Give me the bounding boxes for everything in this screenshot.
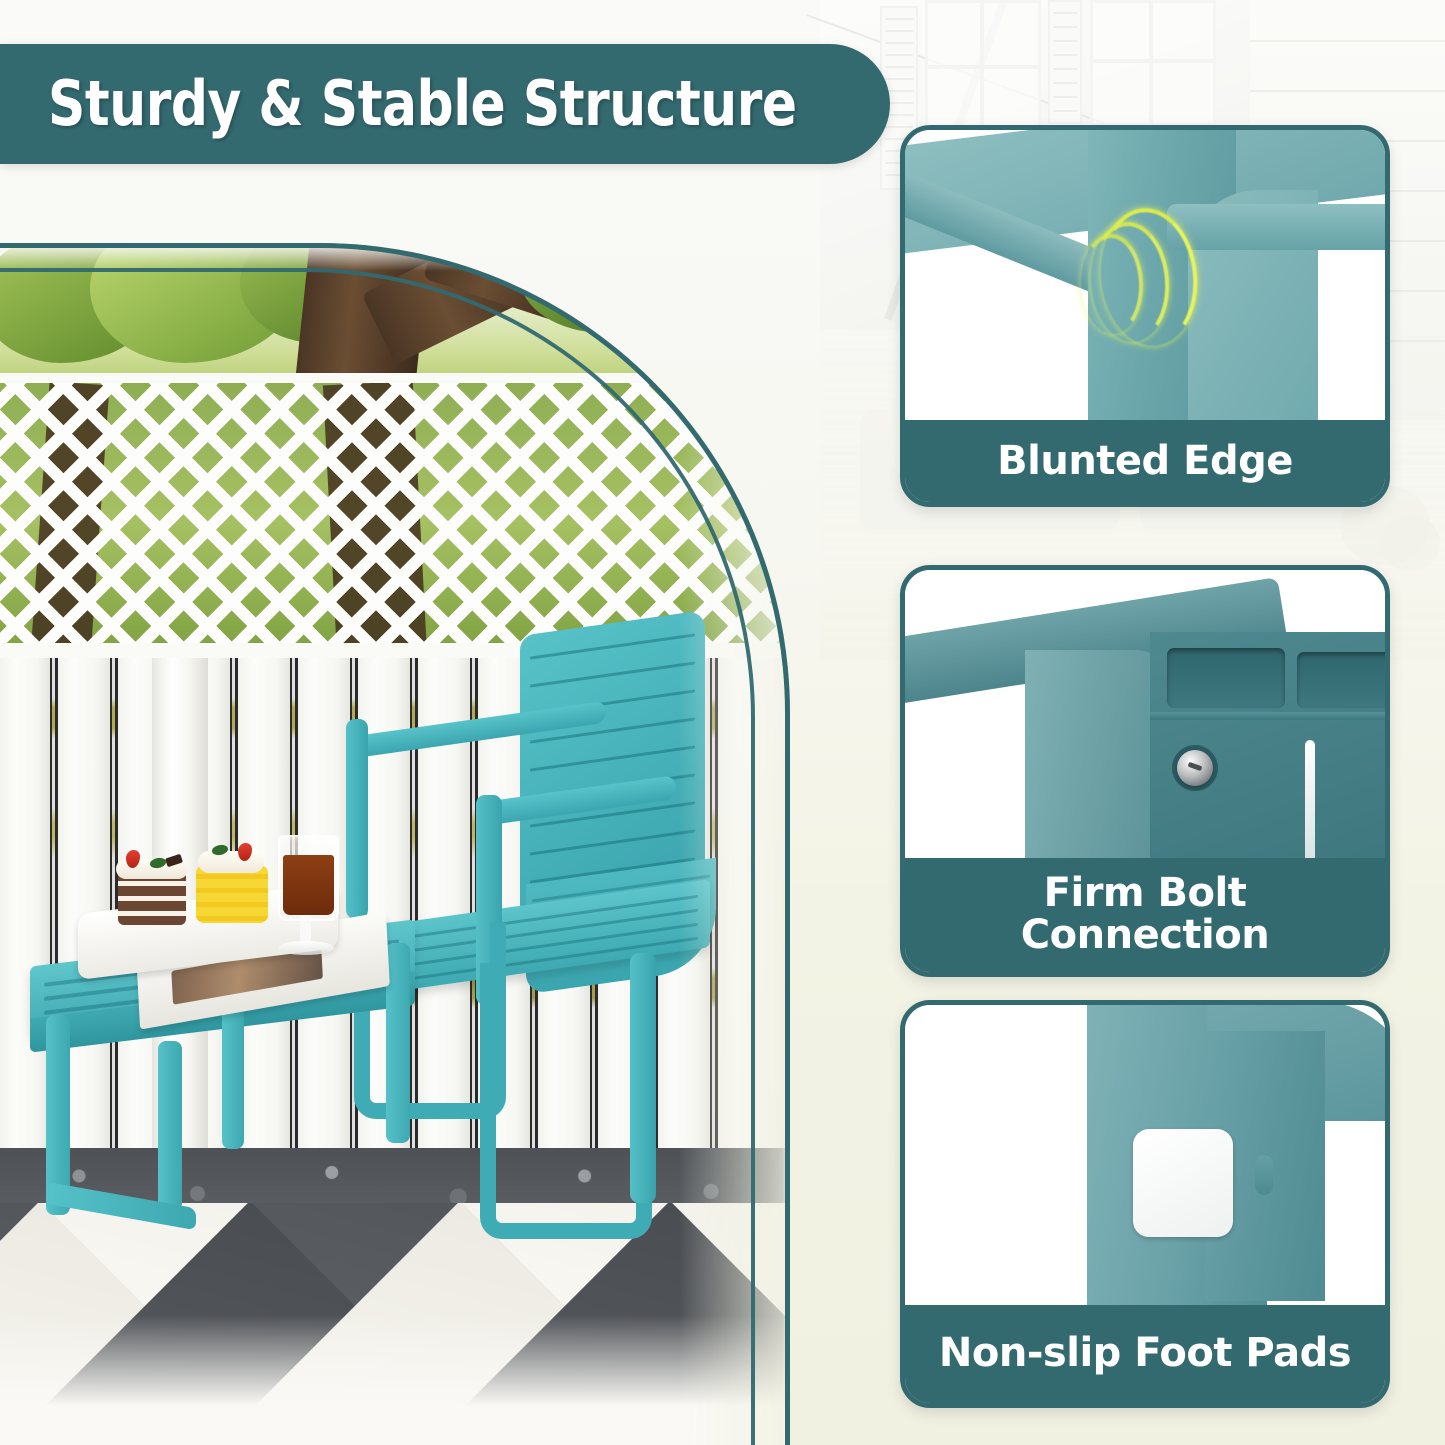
feature-card-blunted-edge[interactable]: Blunted Edge: [900, 125, 1390, 507]
card-label-line1: Firm Bolt: [1044, 873, 1247, 915]
chair-sled-leg-front: [480, 963, 652, 1239]
page-title: Sturdy & Stable Structure: [48, 73, 797, 135]
feature-card-firm-bolt-connection[interactable]: Firm Bolt Connection: [900, 565, 1390, 977]
frame-side-panel: [1025, 650, 1165, 858]
mango-cake: [196, 865, 268, 923]
frame-slot: [1297, 652, 1385, 708]
bolt-icon: [1177, 750, 1213, 786]
card-label-firm-bolt-connection: Firm Bolt Connection: [905, 858, 1385, 972]
card-label-blunted-edge: Blunted Edge: [905, 420, 1385, 504]
firm-bolt-photo: [905, 570, 1385, 858]
card-label-line1: Blunted Edge: [997, 441, 1293, 483]
feature-card-non-slip-foot-pads[interactable]: Non-slip Foot Pads: [900, 1000, 1390, 1408]
background-plant: [1380, 515, 1440, 571]
non-slip-pad-photo: [905, 1005, 1385, 1305]
chocolate-cake: [118, 871, 186, 925]
title-banner: Sturdy & Stable Structure: [0, 44, 890, 164]
house-window: [1090, 0, 1216, 126]
blunted-edge-photo: [905, 130, 1385, 420]
card-label-line2: Connection: [1021, 915, 1269, 957]
glass-foot: [278, 941, 334, 955]
chair-arm-post: [346, 719, 368, 919]
frame-horizontal-arm: [1167, 204, 1385, 250]
non-slip-pad: [1133, 1129, 1233, 1237]
table-leg: [386, 943, 410, 1143]
frame-slot: [1167, 648, 1285, 708]
product-feature-infographic: Sturdy & Stable Structure Blunted Edge: [0, 0, 1445, 1445]
iced-tea-glass: [278, 835, 339, 921]
table-leg: [158, 1041, 182, 1211]
frame-rib: [1150, 712, 1385, 720]
window-shutter: [1048, 0, 1082, 124]
card-label-non-slip-foot-pads: Non-slip Foot Pads: [905, 1305, 1385, 1403]
house-window: [925, 0, 1041, 136]
metal-glint: [1305, 740, 1315, 858]
chair-rear-leg: [630, 953, 656, 1203]
main-product-photo: [0, 243, 800, 1445]
card-label-line1: Non-slip Foot Pads: [939, 1333, 1351, 1375]
leg-notch: [1255, 1155, 1273, 1195]
